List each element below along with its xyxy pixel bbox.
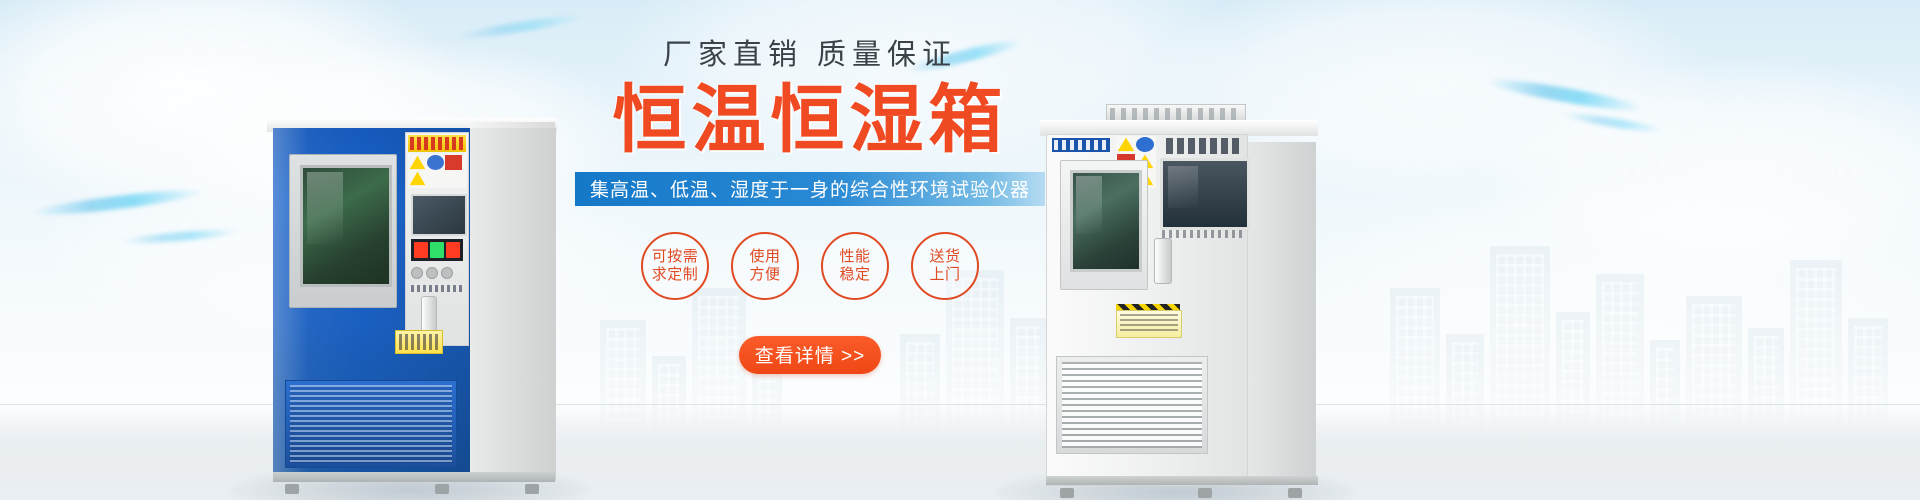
- feature-badge-stable-performance[interactable]: 性能 稳定: [821, 232, 889, 300]
- chamber-window-right: [1070, 170, 1142, 272]
- chamber-door-left: [289, 154, 397, 308]
- chamber-window-left: [300, 165, 392, 287]
- cloud-decoration: [1480, 60, 1920, 280]
- door-handle-right: [1154, 238, 1172, 284]
- feature-badge-line1: 送货: [929, 248, 960, 266]
- banner-subtitle-bar: 集高温、低温、湿度于一身的综合性环境试验仪器: [575, 172, 1045, 206]
- feature-badge-list: 可按需 求定制 使用 方便 性能 稳定 送货 上门: [560, 232, 1060, 300]
- swoosh-decoration: [455, 12, 585, 42]
- feature-badge-line1: 性能: [839, 248, 870, 266]
- product-image-left: [255, 98, 555, 492]
- brand-plate-right: [1052, 138, 1110, 152]
- cloud-decoration: [1300, 170, 1920, 390]
- feature-badge-line1: 使用: [749, 248, 780, 266]
- swoosh-decoration: [1485, 74, 1645, 116]
- product-image-right: [1020, 98, 1320, 496]
- banner-copy: 厂家直销 质量保证 恒温恒湿箱 集高温、低温、湿度于一身的综合性环境试验仪器 可…: [560, 40, 1060, 374]
- feature-badge-delivery[interactable]: 送货 上门: [911, 232, 979, 300]
- banner-headline: 恒温恒湿箱: [560, 80, 1060, 160]
- promo-banner: 厂家直销 质量保证 恒温恒湿箱 集高温、低温、湿度于一身的综合性环境试验仪器 可…: [0, 0, 1920, 500]
- feature-badge-line2: 求定制: [652, 266, 699, 284]
- vent-grille-right: [1056, 356, 1208, 454]
- control-screen-left: [411, 194, 467, 236]
- warning-label-right: [1116, 310, 1182, 338]
- feature-badge-easy-to-use[interactable]: 使用 方便: [731, 232, 799, 300]
- view-details-button[interactable]: 查看详情 >>: [739, 336, 881, 374]
- swoosh-decoration: [30, 185, 205, 219]
- vent-grille-left: [285, 380, 457, 468]
- swoosh-decoration: [120, 227, 240, 246]
- product-name-plate-right: [1166, 138, 1240, 154]
- control-screen-right: [1160, 158, 1250, 230]
- banner-tagline: 厂家直销 质量保证: [560, 40, 1060, 72]
- control-column-left: [405, 132, 469, 346]
- feature-badge-line2: 方便: [749, 266, 780, 284]
- feature-badge-line2: 上门: [929, 266, 960, 284]
- feature-badge-custom[interactable]: 可按需 求定制: [641, 232, 709, 300]
- warning-label-left: [395, 330, 443, 354]
- feature-badge-line2: 稳定: [839, 266, 870, 284]
- feature-badge-line1: 可按需: [652, 248, 699, 266]
- swoosh-decoration: [1560, 110, 1665, 135]
